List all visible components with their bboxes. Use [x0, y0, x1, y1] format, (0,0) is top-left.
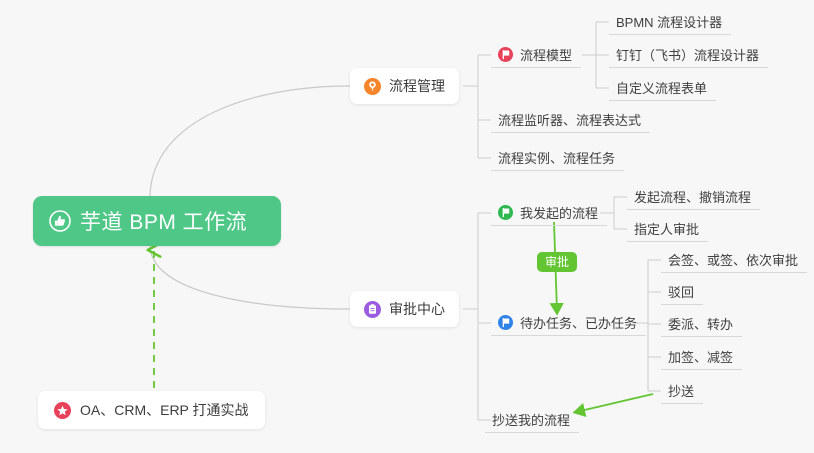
location-pin-icon — [364, 78, 381, 95]
leaf-label-delegate-transfer: 委派、转办 — [668, 314, 733, 333]
approval-center-connectors — [463, 213, 491, 420]
leaf-node-dingtalk-designer[interactable]: 钉钉（飞书）流程设计器 — [609, 42, 768, 68]
leaf-node-process-listener[interactable]: 流程监听器、流程表达式 — [491, 107, 650, 133]
leaf-node-todo-done-tasks[interactable]: 待办任务、已办任务 — [491, 310, 646, 336]
integration-callout-label: OA、CRM、ERP 打通实战 — [80, 400, 249, 420]
leaf-node-add-remove-sign[interactable]: 加签、减签 — [661, 344, 742, 370]
leaf-label-todo-done-tasks: 待办任务、已办任务 — [520, 313, 637, 332]
leaf-node-cc-to-me[interactable]: 抄送我的流程 — [485, 407, 579, 433]
leaf-label-cc-to-me: 抄送我的流程 — [492, 410, 570, 429]
branch-label-approval-center: 审批中心 — [389, 299, 445, 319]
leaf-node-cc[interactable]: 抄送 — [661, 378, 703, 404]
leaf-node-assigned-approval[interactable]: 指定人审批 — [627, 216, 708, 242]
approve-badge: 审批 — [537, 252, 577, 272]
leaf-node-delegate-transfer[interactable]: 委派、转办 — [661, 311, 742, 337]
leaf-label-process-model: 流程模型 — [520, 45, 572, 64]
clipboard-icon — [364, 301, 381, 318]
integration-callout-node[interactable]: OA、CRM、ERP 打通实战 — [38, 391, 265, 429]
leaf-node-custom-form[interactable]: 自定义流程表单 — [609, 75, 716, 101]
leaf-label-countersign: 会签、或签、依次审批 — [668, 250, 798, 269]
flag-icon — [498, 205, 513, 220]
branch-node-approval-center[interactable]: 审批中心 — [350, 291, 459, 327]
leaf-label-assigned-approval: 指定人审批 — [634, 219, 699, 238]
thumbs-up-icon — [49, 210, 71, 232]
leaf-node-process-model[interactable]: 流程模型 — [491, 42, 581, 68]
leaf-label-process-instance: 流程实例、流程任务 — [498, 148, 615, 167]
leaf-node-reject[interactable]: 驳回 — [661, 279, 703, 305]
leaf-label-my-initiated: 我发起的流程 — [520, 203, 598, 222]
branch-node-process-management[interactable]: 流程管理 — [350, 68, 459, 104]
leaf-node-start-cancel-process[interactable]: 发起流程、撤销流程 — [627, 184, 760, 210]
cc-flow-arrow — [576, 394, 653, 412]
flag-icon — [498, 315, 513, 330]
leaf-node-my-initiated[interactable]: 我发起的流程 — [491, 200, 607, 226]
leaf-label-process-listener: 流程监听器、流程表达式 — [498, 110, 641, 129]
leaf-label-start-cancel-process: 发起流程、撤销流程 — [634, 187, 751, 206]
leaf-label-cc: 抄送 — [668, 381, 694, 400]
leaf-label-dingtalk-designer: 钉钉（飞书）流程设计器 — [616, 45, 759, 64]
mindmap-canvas: 芋道 BPM 工作流 流程管理 审批中心 — [0, 0, 814, 453]
leaf-node-process-instance[interactable]: 流程实例、流程任务 — [491, 145, 624, 171]
leaf-label-reject: 驳回 — [668, 282, 694, 301]
leaf-label-add-remove-sign: 加签、减签 — [668, 347, 733, 366]
star-icon — [54, 402, 71, 419]
root-node[interactable]: 芋道 BPM 工作流 — [33, 196, 281, 246]
branch-label-process-management: 流程管理 — [389, 76, 445, 96]
root-label: 芋道 BPM 工作流 — [80, 206, 247, 236]
leaf-node-bpmn-designer[interactable]: BPMN 流程设计器 — [609, 9, 731, 35]
process-model-connectors — [582, 22, 609, 88]
leaf-label-custom-form: 自定义流程表单 — [616, 78, 707, 97]
leaf-label-bpmn-designer: BPMN 流程设计器 — [616, 12, 722, 31]
process-management-connectors — [463, 55, 491, 158]
leaf-node-countersign[interactable]: 会签、或签、依次审批 — [661, 247, 807, 273]
flag-icon — [498, 47, 513, 62]
